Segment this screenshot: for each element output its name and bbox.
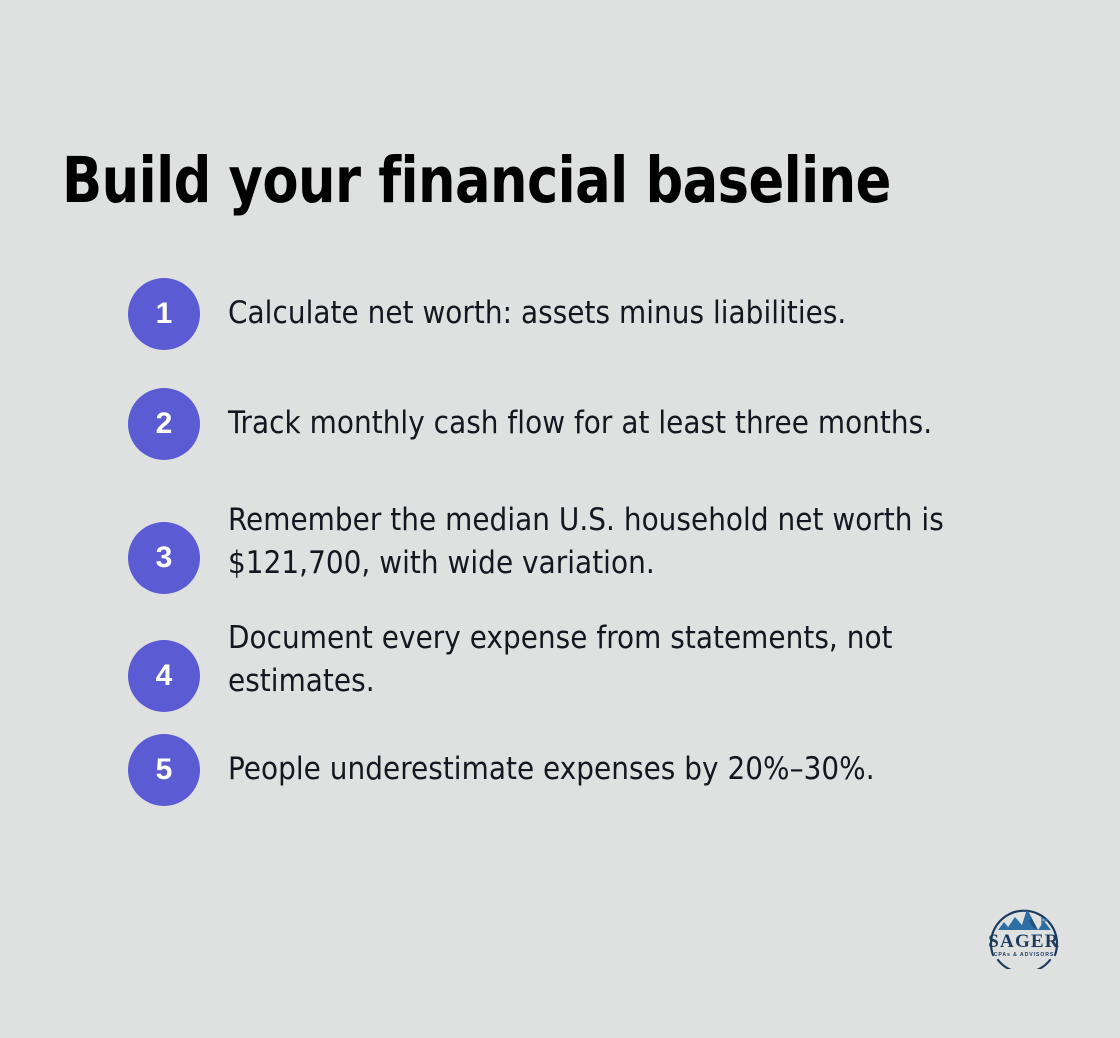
logo-tagline: CPAs & ADVISORS [994,952,1054,958]
slide-canvas: Build your financial baseline 1 Calculat… [0,0,1120,1038]
numbered-list: 1 Calculate net worth: assets minus liab… [128,278,1028,844]
list-item-text: People underestimate expenses by 20%–30%… [228,734,1018,791]
list-item: 5 People underestimate expenses by 20%–3… [128,734,1028,806]
sager-logo: SAGER CPAs & ADVISORS [976,897,1072,969]
list-item: 1 Calculate net worth: assets minus liab… [128,278,1028,350]
list-item: 3 Remember the median U.S. household net… [128,498,1028,594]
list-item-number-badge: 4 [128,640,200,712]
list-item-text: Track monthly cash flow for at least thr… [228,388,1018,445]
list-item-number-badge: 5 [128,734,200,806]
mountain-in-circle-logo: SAGER CPAs & ADVISORS [976,897,1072,969]
list-item-number-badge: 3 [128,522,200,594]
list-item-text: Remember the median U.S. household net w… [228,498,1018,585]
list-item: 2 Track monthly cash flow for at least t… [128,388,1028,460]
list-item-number-badge: 1 [128,278,200,350]
list-item: 4 Document every expense from statements… [128,616,1028,712]
list-item-text: Document every expense from statements, … [228,616,1018,703]
list-item-text: Calculate net worth: assets minus liabil… [228,278,1018,335]
page-title: Build your financial baseline [62,146,973,217]
list-item-number-badge: 2 [128,388,200,460]
logo-wordmark: SAGER [988,931,1059,952]
